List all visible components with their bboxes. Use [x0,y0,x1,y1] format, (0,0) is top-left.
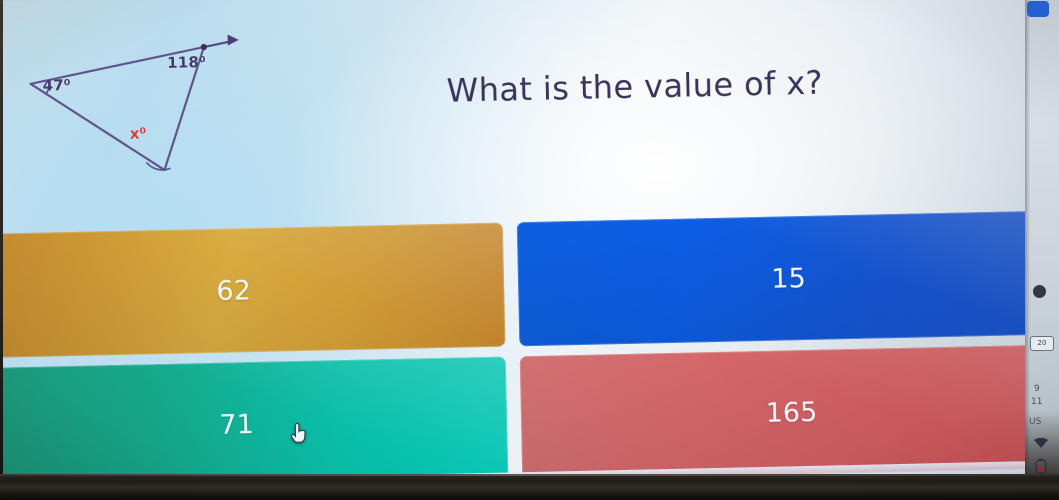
bezel-left [0,0,3,500]
question-text: What is the value of x? [404,63,865,111]
answer-choices-grid: 62 15 71 165 [0,210,1059,492]
geometry-figure: 118⁰ 47⁰ x⁰ [0,0,261,182]
triangle-diagram-svg [0,0,261,182]
button-sheen-2 [0,357,508,493]
label-unknown-angle: x⁰ [130,124,147,142]
tray-circle-icon[interactable] [1033,285,1046,298]
answer-option-15[interactable]: 15 [517,210,1059,346]
taskbar-sliver[interactable]: 20 9 11 US [1025,0,1059,500]
answer-label: 71 [219,409,254,441]
arrowhead-icon [228,34,239,45]
answer-label: 165 [765,396,817,428]
answer-option-165[interactable]: 165 [520,344,1059,480]
vertex-dot [201,44,207,50]
screenshot-root: 118⁰ 47⁰ x⁰ What is the value of x? 62 1… [0,0,1059,500]
label-exterior-angle: 118⁰ [167,53,206,72]
photographed-screen: 118⁰ 47⁰ x⁰ What is the value of x? 62 1… [0,0,1059,500]
answer-option-62[interactable]: 62 [0,223,505,359]
tray-number-top: 9 [1034,384,1059,394]
bezel-bottom [0,474,1059,500]
answer-option-71[interactable]: 71 [0,357,508,493]
wifi-icon[interactable] [1033,437,1049,449]
label-known-angle: 47⁰ [42,76,70,95]
button-sheen-0 [0,223,505,359]
answer-label: 15 [771,262,806,294]
answer-label: 62 [216,275,251,307]
bezel-highlight [0,474,1059,476]
tray-number-bottom: 11 [1031,397,1059,407]
tray-app-chip[interactable] [1027,1,1049,17]
tray-language-indicator[interactable]: US [1029,417,1059,427]
tray-badge-box[interactable]: 20 [1030,336,1054,351]
battery-icon[interactable] [1035,458,1047,474]
